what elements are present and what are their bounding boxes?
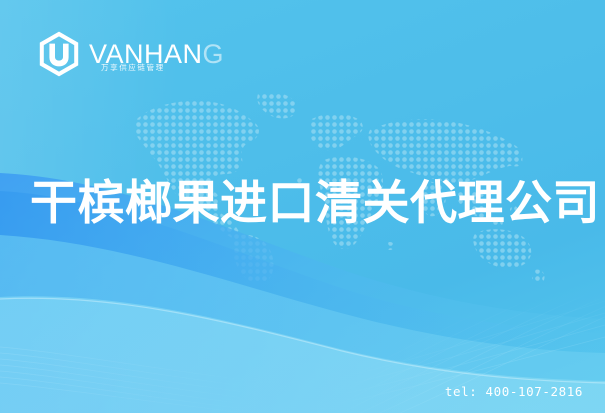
page-title: 干槟榔果进口清关代理公司: [30, 178, 590, 230]
brand-logo: VANHANG 万享供应链管理: [36, 30, 224, 78]
brand-wordmark: VANHANG 万享供应链管理: [89, 34, 224, 74]
brand-name-tail: G: [203, 39, 225, 69]
brand-subtitle: 万享供应链管理: [101, 62, 165, 73]
hexagon-u-logo-icon: [36, 30, 82, 78]
marketing-banner: VANHANG 万享供应链管理 干槟榔果进口清关代理公司 tel: 400-10…: [0, 0, 605, 413]
contact-phone: tel: 400-107-2816: [445, 384, 583, 399]
